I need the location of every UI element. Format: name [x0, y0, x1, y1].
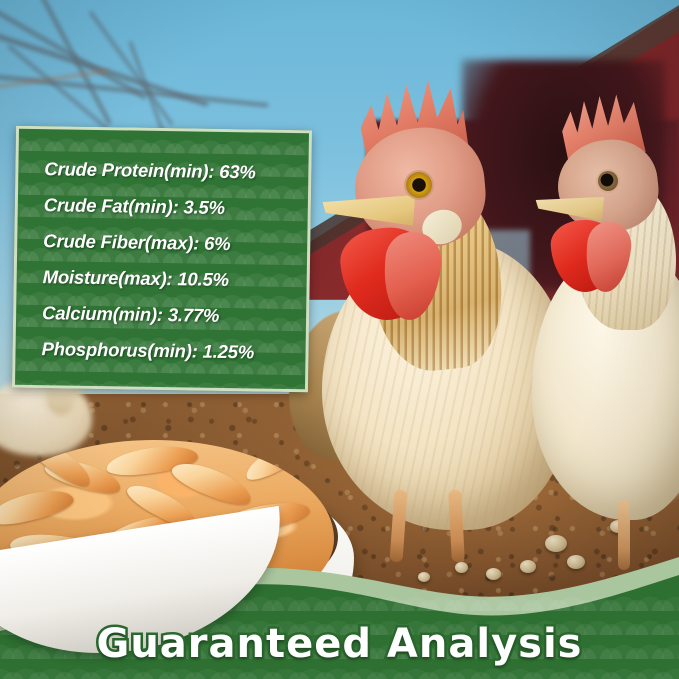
chicken-right: [530, 70, 679, 490]
chicken-eye: [598, 171, 618, 191]
nutrient-row-crude-protein: Crude Protein(min): 63%: [44, 151, 295, 191]
product-label-image: Crude Protein(min): 63% Crude Fat(min): …: [0, 0, 679, 679]
guaranteed-analysis-panel: Crude Protein(min): 63% Crude Fat(min): …: [12, 126, 312, 393]
nutrient-row-crude-fat: Crude Fat(min): 3.5%: [44, 187, 295, 227]
nutrient-row-crude-fiber: Crude Fiber(max): 6%: [43, 223, 294, 263]
bottom-banner: Guaranteed Analysis: [0, 539, 679, 679]
chicken-eye: [406, 172, 432, 198]
nutrient-row-phosphorus: Phosphorus(min): 1.25%: [41, 331, 292, 371]
shrimp: [0, 484, 76, 530]
banner-title: Guaranteed Analysis: [0, 621, 679, 667]
nutrient-row-calcium: Calcium(min): 3.77%: [42, 295, 293, 335]
nutrient-row-moisture: Moisture(max): 10.5%: [42, 259, 293, 299]
shrimp: [168, 455, 256, 511]
nutrient-list: Crude Protein(min): 63% Crude Fat(min): …: [15, 129, 309, 372]
